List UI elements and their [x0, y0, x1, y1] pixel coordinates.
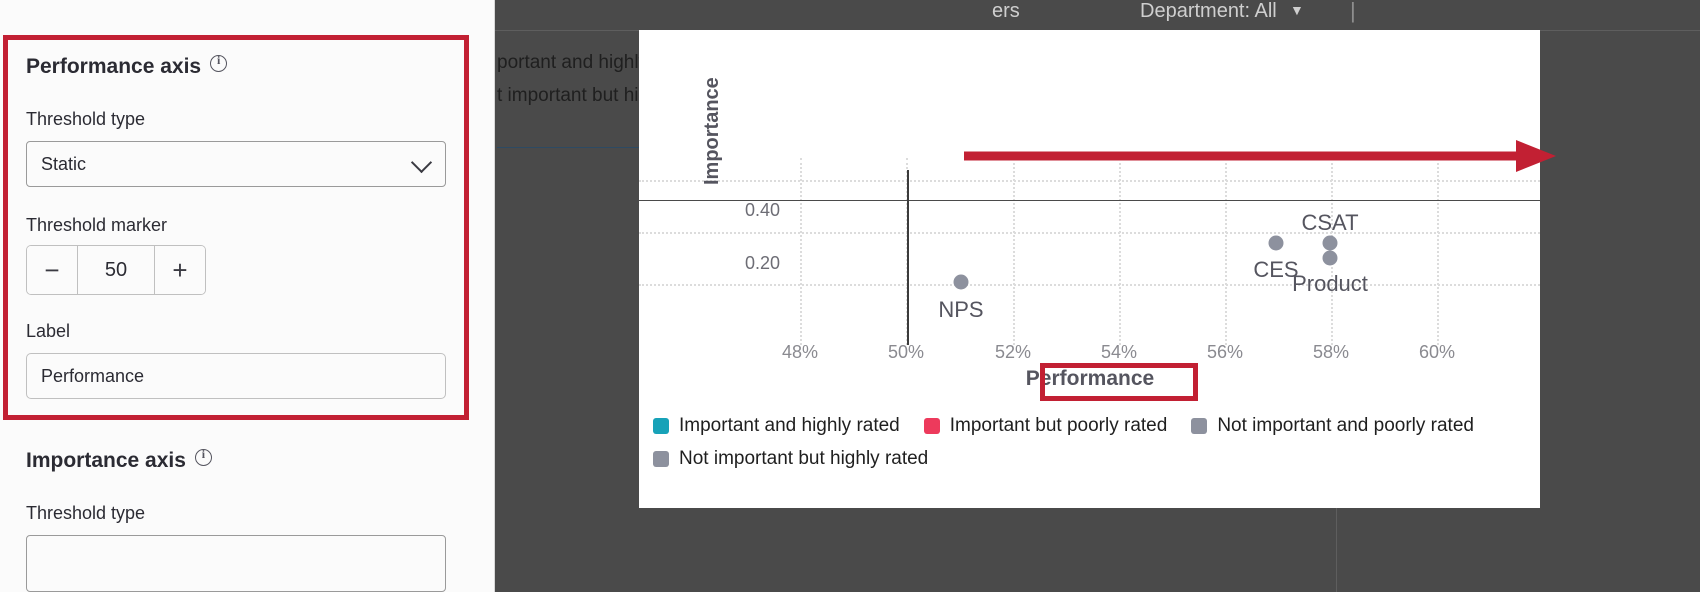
- threshold-marker-stepper: − 50 +: [26, 245, 206, 295]
- data-point-ces[interactable]: [1269, 236, 1284, 251]
- chevron-down-icon[interactable]: [411, 152, 432, 173]
- legend-label: Not important and poorly rated: [1217, 415, 1474, 437]
- x-axis-tick-label: 56%: [1207, 342, 1243, 363]
- legend-item[interactable]: Not important and poorly rated: [1191, 415, 1474, 437]
- screenshot-root: ers Department: All ▼ | portant and high…: [0, 0, 1700, 592]
- background-text-line-2: t important but hig: [497, 85, 649, 107]
- x-axis-title: Performance: [1026, 367, 1154, 391]
- info-icon[interactable]: [210, 55, 227, 72]
- threshold-type-label-importance: Threshold type: [26, 503, 145, 524]
- background-text-line-1: portant and highly: [497, 52, 648, 74]
- legend-item[interactable]: Important but poorly rated: [924, 415, 1168, 437]
- y-axis-tick-label: 0.40: [745, 200, 780, 221]
- threshold-type-label-performance: Threshold type: [26, 109, 145, 130]
- data-point-csat[interactable]: [1323, 236, 1338, 251]
- x-axis-tick-label: 54%: [1101, 342, 1137, 363]
- gridline-vertical: [800, 158, 802, 345]
- threshold-marker-value[interactable]: 50: [78, 246, 154, 294]
- performance-label-value: Performance: [41, 366, 144, 387]
- importance-axis-heading: Importance axis: [26, 449, 212, 473]
- legend-item[interactable]: Not important but highly rated: [653, 448, 928, 470]
- toolbar-divider: |: [1350, 0, 1356, 24]
- red-arrow-annotation: [960, 140, 1560, 190]
- x-axis-tick-label: 52%: [995, 342, 1031, 363]
- performance-label-input[interactable]: Performance: [26, 353, 446, 399]
- app-topbar: ers Department: All ▼ |: [495, 0, 1700, 31]
- data-point-label-nps: NPS: [938, 297, 983, 323]
- chart-legend: Important and highly rated Important but…: [653, 415, 1533, 481]
- importance-axis-heading-text: Importance axis: [26, 449, 186, 472]
- y-axis-tick-label: 0.20: [745, 253, 780, 274]
- legend-swatch-icon: [924, 418, 940, 434]
- legend-swatch-icon: [1191, 418, 1207, 434]
- threshold-marker-label: Threshold marker: [26, 215, 167, 236]
- performance-axis-heading-text: Performance axis: [26, 55, 201, 78]
- legend-label: Important but poorly rated: [950, 415, 1168, 437]
- performance-axis-heading: Performance axis: [26, 55, 227, 79]
- legend-label: Important and highly rated: [679, 415, 900, 437]
- threshold-marker-increment-button[interactable]: +: [154, 246, 205, 294]
- chevron-down-icon[interactable]: ▼: [1290, 2, 1304, 18]
- data-point-label-csat: CSAT: [1301, 210, 1358, 236]
- x-axis-tick-label: 50%: [888, 342, 924, 363]
- info-icon[interactable]: [195, 449, 212, 466]
- x-axis-tick-label: 48%: [782, 342, 818, 363]
- data-point-product[interactable]: [1323, 251, 1338, 266]
- performance-threshold-line: [907, 170, 909, 345]
- legend-swatch-icon: [653, 451, 669, 467]
- panel-scrollbar-track[interactable]: [478, 110, 488, 360]
- y-axis-title: Importance: [701, 77, 724, 185]
- threshold-marker-decrement-button[interactable]: −: [27, 246, 78, 294]
- data-point-label-product: Product: [1292, 271, 1368, 297]
- label-field-label: Label: [26, 321, 70, 342]
- legend-label: Not important but highly rated: [679, 448, 928, 470]
- x-axis-tick-label: 60%: [1419, 342, 1455, 363]
- threshold-type-value-performance: Static: [41, 154, 86, 175]
- threshold-type-select-performance[interactable]: Static: [26, 141, 446, 187]
- topbar-title-fragment: ers: [992, 0, 1032, 23]
- background-vertical-rule: [1336, 505, 1337, 592]
- legend-swatch-icon: [653, 418, 669, 434]
- data-point-nps[interactable]: [954, 275, 969, 290]
- gridline-horizontal: [639, 232, 1540, 234]
- x-axis-tick-label: 58%: [1313, 342, 1349, 363]
- legend-item[interactable]: Important and highly rated: [653, 415, 900, 437]
- settings-panel: Performance axis Threshold type Static T…: [0, 0, 495, 592]
- threshold-type-select-importance[interactable]: [26, 535, 446, 592]
- matrix-chart-card: Importance 0.40 0.20 48% 50% 52% 54% 56%…: [639, 30, 1540, 508]
- department-filter-label[interactable]: Department: All: [1140, 0, 1277, 23]
- gridline-horizontal: [639, 284, 1540, 286]
- background-divider: [497, 147, 642, 148]
